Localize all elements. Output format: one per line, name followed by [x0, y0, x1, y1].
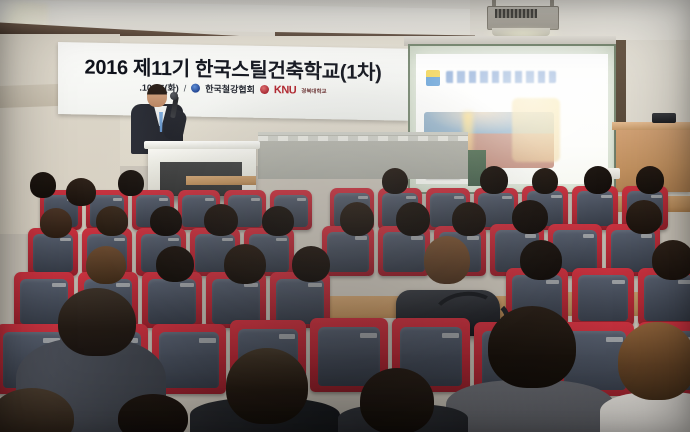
attendee-head — [626, 200, 662, 234]
banner-org-ksa: 한국철강협회 — [205, 82, 255, 96]
attendee-head — [96, 206, 128, 236]
ksa-logo-icon — [191, 84, 200, 93]
attendee-head — [488, 306, 576, 388]
attendee-head — [618, 322, 690, 400]
attendee-head — [382, 168, 408, 194]
attendee-head — [340, 202, 374, 236]
podium-top-surface — [144, 141, 260, 149]
attendee-head — [292, 246, 330, 282]
projector-vent — [495, 9, 537, 18]
attendee-head — [30, 172, 56, 198]
knu-logo-icon — [260, 85, 269, 94]
attendee-head — [262, 206, 294, 236]
attendee-head — [156, 246, 194, 282]
attendee-head — [150, 206, 182, 236]
attendee-head — [520, 240, 562, 280]
attendee-head — [118, 170, 144, 196]
seat — [572, 268, 634, 326]
lecture-hall-photo: 2016 제11기 한국스틸건축학교(1차) .10.25(화) / 한국철강협… — [0, 0, 690, 432]
attendee-head — [480, 166, 508, 194]
banner-separator: / — [184, 83, 187, 93]
slide-illustration-secondary — [512, 98, 560, 162]
banner-org-knu-mark: KNU — [274, 84, 296, 96]
attendee-head — [86, 246, 126, 284]
desk-row-far — [186, 176, 256, 185]
slide-title-text — [446, 71, 556, 83]
attendee-head — [226, 348, 308, 424]
side-counter-top — [612, 122, 690, 130]
counter-equipment — [652, 113, 676, 123]
attendee-head — [66, 178, 96, 206]
attendee-head — [636, 166, 664, 194]
attendee-head — [58, 288, 136, 356]
banner-org-knu-name: 경북대학교 — [301, 86, 326, 94]
attendee-head — [118, 394, 188, 432]
attendee-head — [652, 240, 690, 280]
attendee-head — [424, 236, 470, 284]
chalkboard-tray — [258, 136, 468, 141]
attendee-head — [396, 202, 430, 236]
speaker-head — [147, 84, 167, 107]
attendee-head — [360, 368, 434, 432]
attendee-head — [204, 204, 238, 236]
attendee-head — [512, 200, 548, 234]
event-banner: 2016 제11기 한국스틸건축학교(1차) .10.25(화) / 한국철강협… — [58, 42, 408, 121]
attendee-head — [532, 168, 558, 194]
microphone-head-icon — [170, 92, 178, 100]
slide-bullet-icon — [426, 70, 440, 86]
attendee-head — [40, 208, 72, 238]
attendee-head — [452, 202, 486, 236]
attendee-head — [584, 166, 612, 194]
attendee-head — [224, 244, 266, 284]
